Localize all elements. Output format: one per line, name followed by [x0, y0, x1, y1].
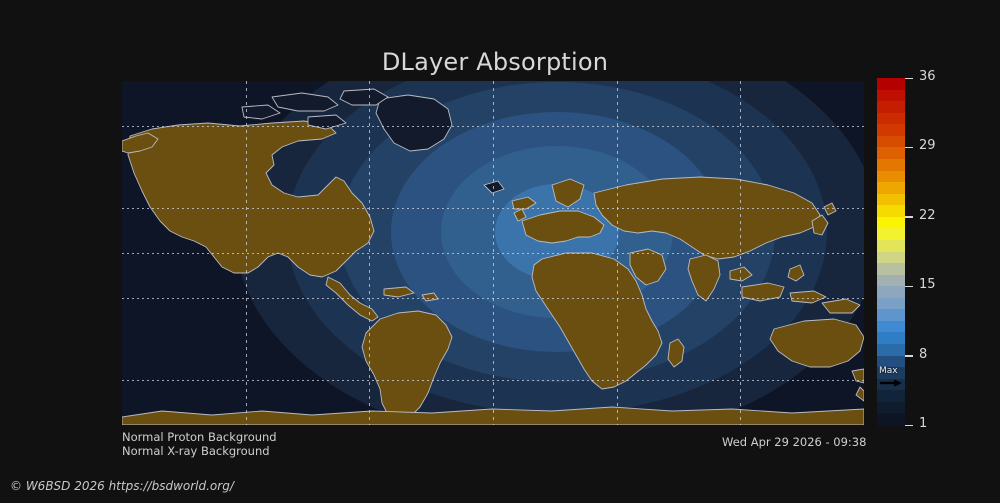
world-map[interactable] [122, 81, 864, 425]
colorbar-tick-mark [905, 425, 913, 427]
colorbar-tick-label: 22 [919, 208, 936, 224]
colorbar-tick-mark [905, 147, 913, 149]
colorbar-band [877, 124, 905, 136]
colorbar-max-label: Max [879, 366, 905, 376]
colorbar-band [877, 182, 905, 194]
colorbar-tick-mark [905, 355, 913, 357]
timestamp: Wed Apr 29 2026 - 09:38 [722, 435, 866, 449]
page-title: DLayer Absorption [0, 48, 990, 76]
colorbar-band [877, 321, 905, 333]
gridline-longitude [740, 81, 741, 425]
colorbar-tick-label: 15 [919, 277, 936, 293]
colorbar-band [877, 240, 905, 252]
colorbar-band [877, 78, 905, 90]
colorbar-band [877, 298, 905, 310]
colorbar-band [877, 171, 905, 183]
colorbar-band [877, 136, 905, 148]
colorbar-band [877, 90, 905, 102]
colorbar-band [877, 228, 905, 240]
proton-background-note: Normal Proton Background [122, 430, 277, 444]
colorbar-band [877, 205, 905, 217]
colorbar-band [877, 101, 905, 113]
colorbar-max-marker: Max [879, 366, 905, 390]
gridline-longitude [369, 81, 370, 425]
colorbar-band [877, 309, 905, 321]
colorbar-tick-mark [905, 78, 913, 80]
colorbar-tick: 29 [905, 147, 975, 148]
colorbar-band [877, 147, 905, 159]
colorbar-tick: 15 [905, 286, 975, 287]
colorbar-band [877, 413, 905, 425]
colorbar-tick: 8 [905, 356, 975, 357]
colorbar-band [877, 217, 905, 229]
colorbar-tick-mark [905, 286, 913, 288]
colorbar-band [877, 390, 905, 402]
colorbar-ticks: 3629221581 [905, 78, 975, 425]
colorbar-band [877, 252, 905, 264]
colorbar-band [877, 159, 905, 171]
colorbar-tick-label: 1 [919, 416, 927, 432]
xray-background-note: Normal X-ray Background [122, 444, 270, 458]
colorbar-tick: 36 [905, 78, 975, 79]
colorbar-band [877, 332, 905, 344]
colorbar-tick: 22 [905, 217, 975, 218]
dlayer-absorption-map-page: DLayer Absorption [0, 0, 1000, 500]
gridline-longitude [617, 81, 618, 425]
colorbar-tick-label: 36 [919, 69, 936, 85]
colorbar-tick-mark [905, 216, 913, 218]
gridline-longitude [493, 81, 494, 425]
colorbar-band [877, 402, 905, 414]
colorbar-tick: 1 [905, 425, 975, 426]
gridline-longitude [246, 81, 247, 425]
colorbar-band [877, 113, 905, 125]
colorbar-band [877, 263, 905, 275]
colorbar-band [877, 344, 905, 356]
arrow-right-icon [880, 379, 902, 387]
copyright-notice: © W6BSD 2026 https://bsdworld.org/ [10, 479, 234, 493]
colorbar-band [877, 275, 905, 287]
colorbar-band [877, 194, 905, 206]
colorbar-tick-label: 29 [919, 138, 936, 154]
colorbar-tick-label: 8 [919, 347, 927, 363]
colorbar-band [877, 286, 905, 298]
